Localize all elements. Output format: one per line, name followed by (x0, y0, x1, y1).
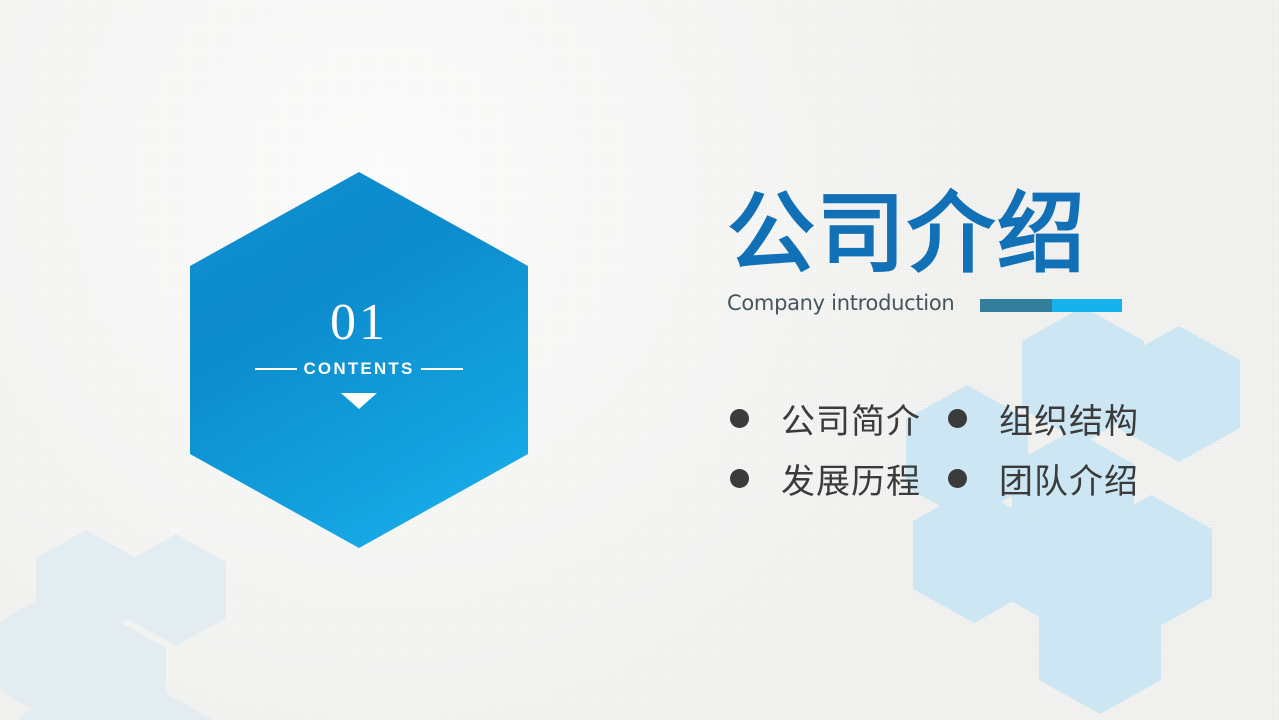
dot-icon (730, 469, 749, 488)
title-block: 公司介绍 Company introduction (727, 186, 1247, 315)
contents-label: CONTENTS (303, 359, 414, 379)
list-item-label: 组织结构 (999, 394, 1139, 443)
dot-icon (948, 409, 967, 428)
contents-label-row: CONTENTS (255, 359, 462, 379)
list-item-label: 团队介绍 (999, 454, 1139, 503)
rule-left-icon (255, 368, 297, 370)
list-item[interactable]: 组织结构 (948, 394, 1166, 443)
decor-hexagon-left-2 (126, 534, 226, 646)
dot-icon (948, 469, 967, 488)
page-title: 公司介绍 (727, 186, 1247, 281)
list-item[interactable]: 团队介绍 (948, 454, 1166, 503)
slide-canvas: 01 CONTENTS 公司介绍 Company introduction 公司… (0, 0, 1279, 720)
page-subtitle: Company introduction (727, 291, 954, 315)
list-item[interactable]: 公司简介 (730, 394, 948, 443)
section-number: 01 (330, 297, 388, 349)
accent-bar (980, 299, 1122, 312)
section-hexagon-content: 01 CONTENTS (190, 172, 528, 548)
rule-right-icon (421, 368, 463, 370)
accent-bar-right-segment (1052, 299, 1122, 312)
dot-icon (730, 409, 749, 428)
agenda-list: 公司简介 组织结构 发展历程 团队介绍 (730, 388, 1166, 508)
accent-bar-left-segment (980, 299, 1052, 312)
list-item[interactable]: 发展历程 (730, 454, 948, 503)
list-item-label: 发展历程 (781, 454, 921, 503)
subtitle-row: Company introduction (727, 291, 1247, 315)
list-item-label: 公司简介 (781, 394, 921, 443)
triangle-down-icon (341, 393, 377, 409)
